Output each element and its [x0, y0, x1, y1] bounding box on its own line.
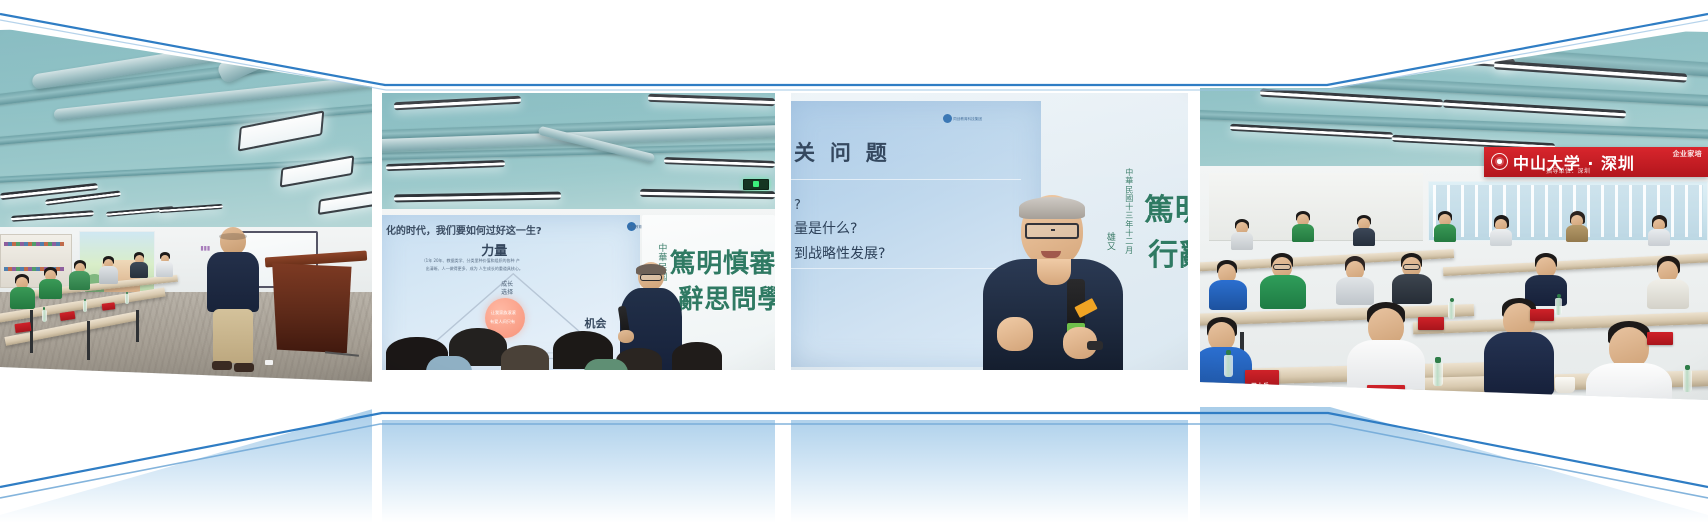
slide-label-top: 力量	[481, 240, 507, 259]
torso	[1347, 340, 1425, 400]
books-row	[4, 242, 64, 246]
name-card	[1418, 317, 1444, 330]
audience-member	[1260, 253, 1308, 307]
glasses-bridge	[1051, 229, 1055, 231]
water-bottle	[1555, 298, 1562, 315]
wall-calligraphy-line-1: 篤明	[1144, 195, 1188, 227]
water-bottle	[83, 301, 87, 312]
audience-member	[1525, 253, 1569, 305]
audience-head-foreground	[501, 345, 549, 370]
name-card	[1367, 385, 1405, 400]
slide-line-2: 量是什么?	[794, 218, 857, 238]
torso	[156, 261, 173, 277]
slide-label-center-2: 选择	[501, 287, 513, 296]
glasses-icon	[1403, 264, 1420, 270]
neck	[1037, 259, 1071, 285]
desk-leg	[87, 321, 90, 361]
photo-1-content: ▮▮▮	[0, 22, 378, 382]
audience-shoulders	[426, 356, 472, 370]
slide-divider	[790, 179, 1021, 180]
audience-member	[1291, 211, 1317, 241]
slide-circle-text-1: 让我家族滚滚	[491, 310, 516, 316]
torso	[1586, 363, 1672, 400]
photo-2-content: 化的时代，我们要如何过好这一生? 同创教育科技集团 力量 （1年 20年、教据类…	[378, 93, 775, 370]
exit-sign-icon	[743, 179, 769, 190]
audience-member	[1392, 253, 1434, 303]
audience-member	[68, 260, 94, 290]
event-banner-sub-text: 指导单位：深圳	[1546, 166, 1590, 175]
torso	[99, 266, 118, 284]
glasses-icon	[640, 274, 662, 281]
water-bottle	[1683, 370, 1692, 392]
water-bottle	[1433, 362, 1443, 386]
name-card	[1530, 309, 1554, 321]
audience-member	[1565, 211, 1591, 241]
audience-member	[98, 256, 122, 284]
torso	[1231, 232, 1253, 250]
audience-member	[1336, 256, 1376, 304]
hand-left	[997, 317, 1033, 351]
photo-tile-speaker-portrait[interactable]: 关 问 题 同创教育科技集团 ? 量是什么? 到战略性发展? 中華民國十三年十二…	[790, 93, 1188, 370]
photo-4-content: 中山大学 · 深圳 企业家培 指导单位：深圳	[1199, 22, 1708, 400]
head	[220, 227, 246, 255]
torso	[39, 279, 62, 299]
torso	[1490, 229, 1512, 246]
name-card	[102, 302, 116, 311]
event-banner-top-text: 企业家培	[1673, 149, 1702, 159]
torso	[1209, 280, 1247, 310]
top-white-band	[372, 0, 1196, 90]
university-seal-icon	[1491, 153, 1508, 170]
slide-headline: 化的时代，我们要如何过好这一生?	[386, 222, 542, 237]
slide-line-1: ?	[794, 198, 801, 213]
torso	[10, 287, 35, 309]
shoe	[212, 361, 232, 370]
water-bottle	[125, 294, 129, 304]
slide-brand-mark	[943, 114, 952, 123]
torso	[1647, 279, 1689, 309]
water-bottle	[1448, 302, 1455, 319]
slide-circle-text-2: 有爱人间只有	[490, 319, 515, 325]
desk-leg	[136, 310, 139, 342]
audience-member	[1230, 219, 1256, 249]
torso	[1484, 332, 1554, 396]
name-card-label: 庞桂平	[1373, 398, 1391, 400]
audience-member	[38, 267, 66, 299]
speaker-scene: 关 问 题 同创教育科技集团 ? 量是什么? 到战略性发展? 中華民國十三年十二…	[790, 93, 1188, 370]
torso	[1260, 275, 1306, 309]
event-banner: 中山大学 · 深圳 企业家培 指导单位：深圳	[1484, 147, 1708, 177]
audience-member	[155, 252, 176, 277]
audience-member	[1433, 211, 1459, 241]
torso	[130, 262, 148, 278]
frame-line-bottom-outer	[0, 424, 1708, 498]
frame-line-bottom-inner	[0, 413, 1708, 487]
water-bottle	[1224, 355, 1233, 377]
torso	[1566, 225, 1588, 242]
name-card	[1647, 332, 1673, 345]
presenter-standing	[204, 227, 262, 375]
torso	[1292, 224, 1314, 242]
desk-leg	[30, 310, 33, 353]
water-bottle	[42, 310, 47, 322]
photo-tile-classroom-wide-left[interactable]: ▮▮▮	[0, 22, 378, 382]
torso	[1648, 229, 1670, 246]
slide-line-3: 到战略性发展?	[794, 243, 885, 263]
photo-tile-audience-right[interactable]: 中山大学 · 深圳 企业家培 指导单位：深圳	[1199, 22, 1708, 400]
audience-member	[1647, 215, 1673, 245]
audience-member	[1209, 260, 1249, 308]
name-card-label: 周小兵	[1251, 381, 1269, 390]
glasses-icon	[1273, 264, 1291, 270]
hair	[1019, 197, 1085, 219]
audience-head-foreground	[672, 342, 722, 370]
slide-note-left-1: （1年 20年、教据类学、分类里种价值和组织的各种 产	[422, 258, 520, 264]
bottom-white-band	[372, 370, 1196, 420]
hand	[618, 330, 634, 343]
torso	[1353, 228, 1375, 246]
torso	[1392, 274, 1432, 304]
shoe	[234, 363, 254, 372]
name-card	[1245, 370, 1279, 388]
audience-member	[1352, 215, 1378, 245]
audience-shoulders	[584, 359, 628, 370]
legs	[213, 309, 253, 363]
paper-cup	[1555, 377, 1575, 393]
audience-member	[129, 252, 151, 278]
audience-member	[1647, 256, 1691, 308]
photo-tile-lecture-slide-triangle[interactable]: 化的时代，我们要如何过好这一生? 同创教育科技集团 力量 （1年 20年、教据类…	[378, 93, 775, 370]
classroom-scene-1: ▮▮▮	[0, 22, 378, 382]
name-card	[15, 322, 32, 333]
podium	[272, 263, 351, 353]
paper-on-floor	[265, 360, 273, 365]
torso	[207, 252, 259, 312]
torso	[69, 271, 90, 290]
photo-3-content: 关 问 题 同创教育科技集团 ? 量是什么? 到战略性发展? 中華民國十三年十二…	[790, 93, 1188, 370]
slide-brand: 同创教育科技集团	[953, 117, 982, 122]
slide-label-right: 机会	[584, 315, 606, 331]
classroom-scene-2: 化的时代，我们要如何过好这一生? 同创教育科技集团 力量 （1年 20年、教据类…	[378, 93, 775, 370]
slide-headline: 关 问 题	[794, 137, 891, 167]
page-title: 企业家培训班现场花絮	[0, 0, 1, 1]
audience-scene: 中山大学 · 深圳 企业家培 指导单位：深圳	[1199, 22, 1708, 400]
glasses-icon	[1025, 223, 1079, 239]
wall-calligraphy-line-2: 行辭	[1148, 240, 1188, 272]
wall-calligraphy-line-2: 辭思問學	[678, 287, 775, 314]
audience-member	[1489, 215, 1515, 245]
banner-stage: ▮▮▮	[0, 0, 1708, 523]
wristwatch	[1087, 341, 1103, 350]
audience-member	[8, 274, 38, 308]
torso	[1434, 224, 1456, 242]
speaker-figure	[977, 195, 1132, 370]
